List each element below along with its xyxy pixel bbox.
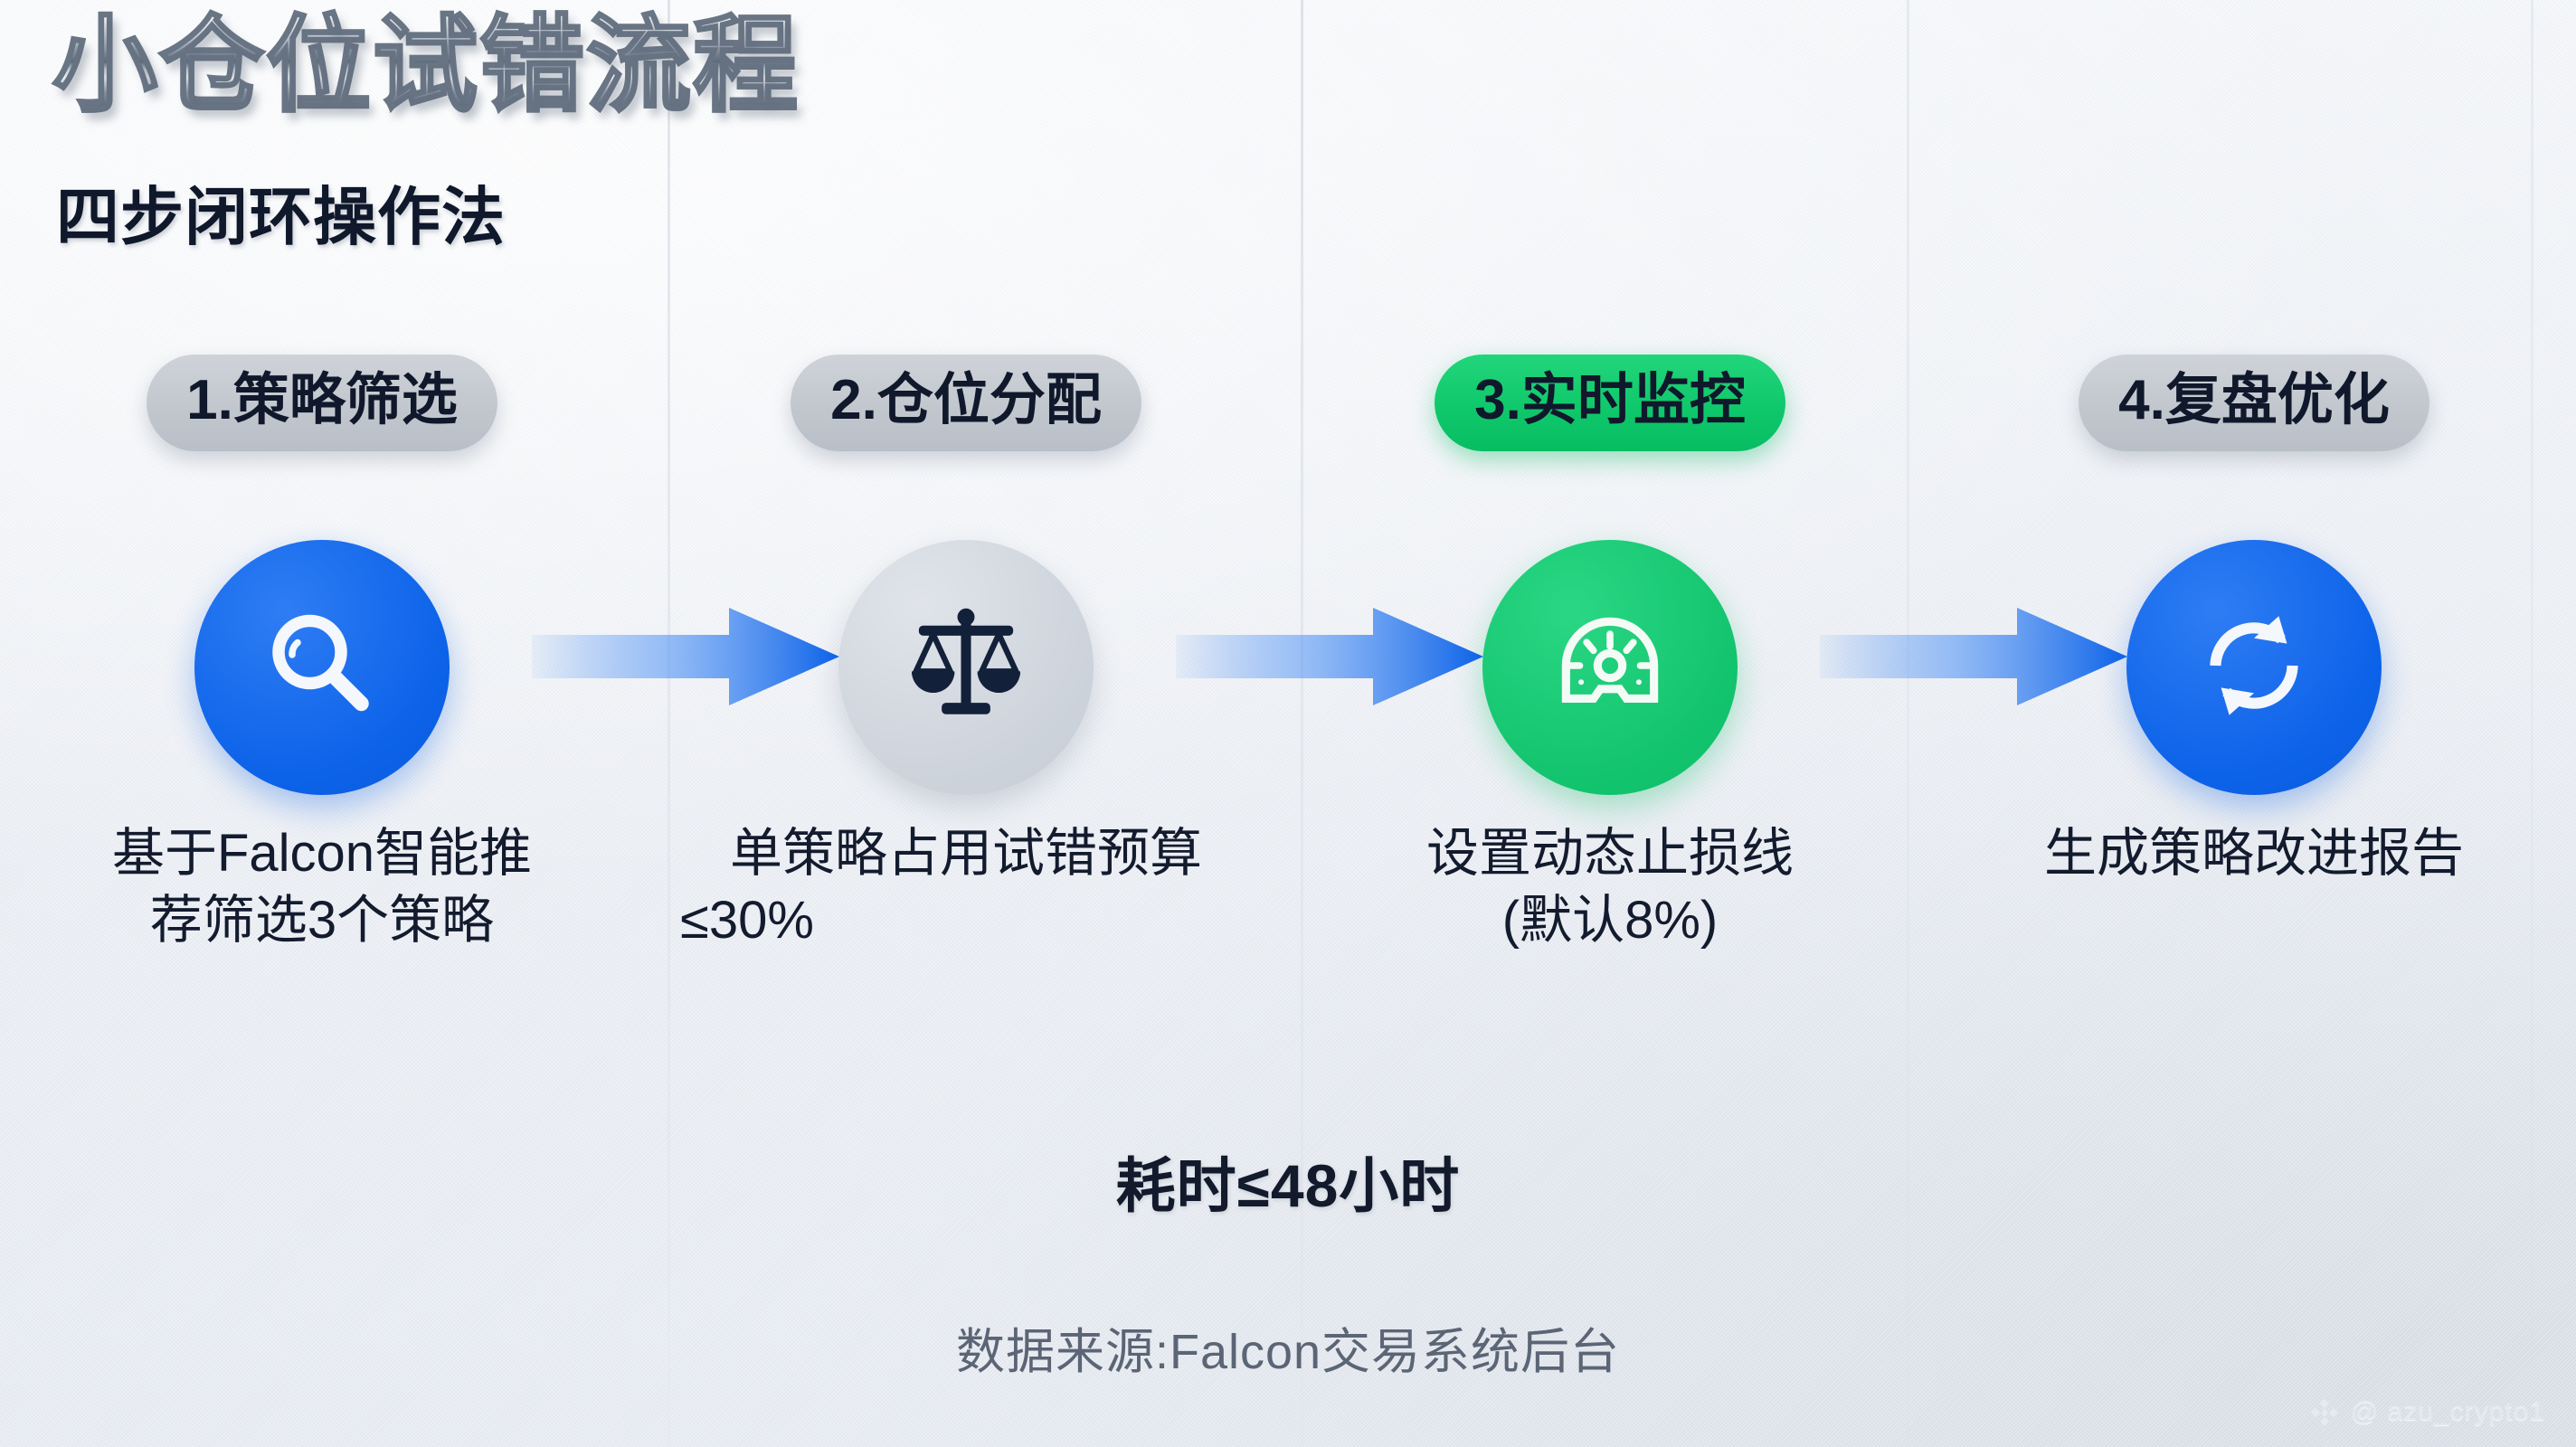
step-3-label-pill[interactable]: 3.实时监控 xyxy=(1435,355,1785,451)
step-4-label-pill[interactable]: 4.复盘优化 xyxy=(2079,355,2429,451)
step-1-caption-line2: 荐筛选3个策略 xyxy=(24,887,620,954)
watermark: @ azu_crypto1 xyxy=(2309,1396,2545,1427)
gauge-icon xyxy=(1541,597,1679,739)
magnifier-icon xyxy=(254,598,390,738)
step-4-caption: 生成策略改进报告 xyxy=(1956,820,2552,887)
watermark-handle: @ azu_crypto1 xyxy=(2351,1396,2545,1427)
step-2-label-pill[interactable]: 2.仓位分配 xyxy=(791,355,1141,451)
step-3-caption-line1: 设置动态止损线 xyxy=(1426,824,1794,883)
step-2-caption-line2: ≤30% xyxy=(668,887,1264,954)
step-2-caption: 单策略占用试错预算 ≤30% xyxy=(668,820,1264,954)
refresh-cycle-icon xyxy=(2185,597,2323,739)
data-source-text: 数据来源:Falcon交易系统后台 xyxy=(0,1311,2576,1383)
process-step-1[interactable]: 1.策略筛选 基于Falcon智能推 荐筛选3个策略 xyxy=(0,355,644,451)
step-3-caption: 设置动态止损线 (默认8%) xyxy=(1312,820,1908,954)
arrow-step3-to-step4 xyxy=(1820,608,2127,705)
duration-text: 耗时≤48小时 xyxy=(0,1138,2576,1225)
process-step-3[interactable]: 3.实时监控 xyxy=(1288,355,1932,451)
process-step-4[interactable]: 4.复盘优化 生成策略改进报告 xyxy=(1932,355,2576,451)
step-1-label-pill[interactable]: 1.策略筛选 xyxy=(147,355,497,451)
step-2-caption-line1: 单策略占用试错预算 xyxy=(730,824,1202,883)
arrow-right-icon xyxy=(1176,608,1483,705)
arrow-right-icon xyxy=(1820,608,2127,705)
infographic-canvas: 小仓位试错流程 四步闭环操作法 1.策略筛选 基于Falcon智能推 荐筛选3个… xyxy=(0,0,2576,1447)
process-step-2[interactable]: 2.仓位分配 xyxy=(644,355,1288,451)
arrow-step2-to-step3 xyxy=(1176,608,1483,705)
arrow-right-icon xyxy=(532,608,839,705)
step-3-caption-line2: (默认8%) xyxy=(1312,887,1908,954)
step-1-icon-circle[interactable] xyxy=(194,540,450,795)
binance-diamond-icon xyxy=(2309,1396,2340,1427)
step-3-icon-circle[interactable] xyxy=(1482,540,1738,795)
step-4-caption-line1: 生成策略改进报告 xyxy=(2044,824,2464,883)
page-subtitle: 四步闭环操作法 xyxy=(56,166,506,258)
step-2-icon-circle[interactable] xyxy=(838,540,1094,795)
bracket-span-icon xyxy=(311,1040,2174,1100)
summary-bracket xyxy=(311,1040,2174,1100)
arrow-step1-to-step2 xyxy=(532,608,839,705)
balance-scales-icon xyxy=(895,594,1037,742)
step-1-caption-line1: 基于Falcon智能推 xyxy=(112,824,532,883)
step-1-caption: 基于Falcon智能推 荐筛选3个策略 xyxy=(24,820,620,954)
page-title: 小仓位试错流程 xyxy=(52,13,800,118)
step-4-icon-circle[interactable] xyxy=(2126,540,2382,795)
